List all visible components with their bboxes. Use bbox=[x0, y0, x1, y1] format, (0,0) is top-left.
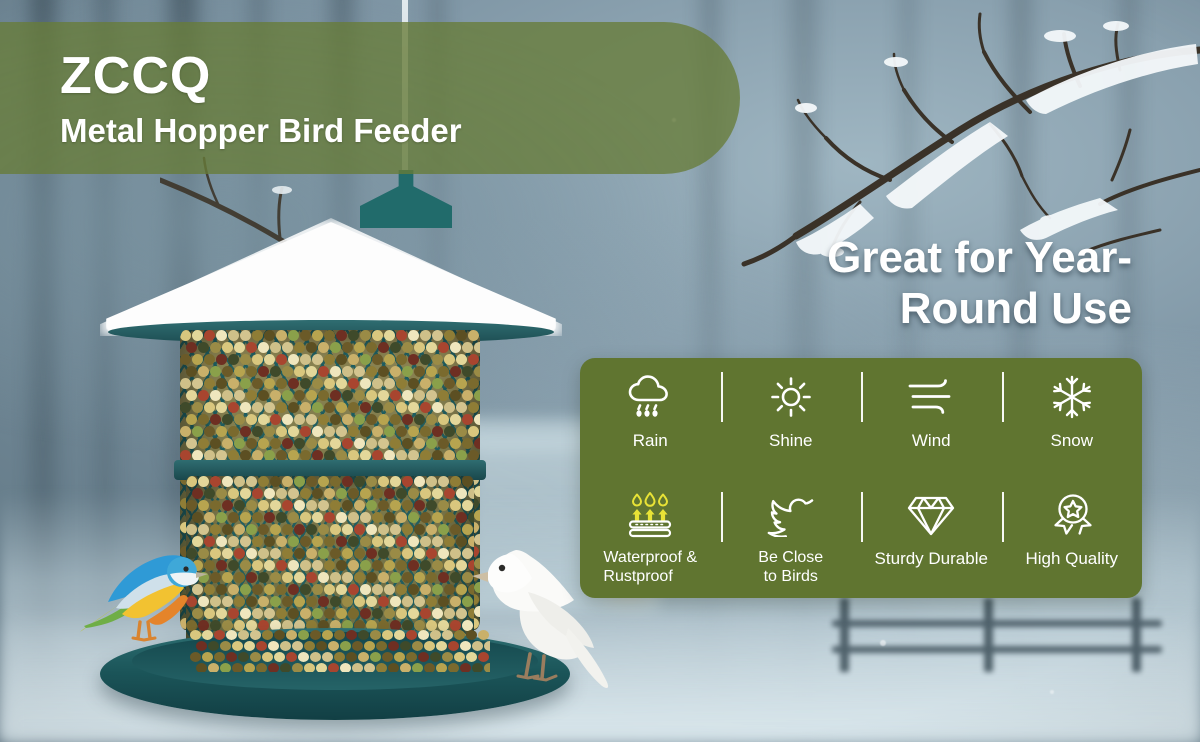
tray-spilled-seeds bbox=[190, 630, 490, 672]
product-marketing-banner: ZCCQ Metal Hopper Bird Feeder Great for … bbox=[0, 0, 1200, 742]
feature-label: Be Close to Birds bbox=[758, 549, 823, 587]
feature-panel: Rain Shine bbox=[580, 358, 1142, 598]
feature-label: Snow bbox=[1050, 431, 1093, 451]
rain-cloud-icon bbox=[626, 372, 674, 422]
cell-divider bbox=[721, 492, 723, 542]
waterproof-layers-icon bbox=[624, 490, 676, 540]
feeder-hanger-cap bbox=[360, 170, 452, 228]
cell-divider bbox=[1002, 372, 1004, 422]
feature-label: Shine bbox=[769, 431, 812, 451]
wind-icon bbox=[906, 372, 956, 422]
feature-label: High Quality bbox=[1025, 549, 1118, 569]
feature-shine[interactable]: Shine bbox=[721, 358, 862, 478]
feature-high-quality[interactable]: High Quality bbox=[1002, 478, 1143, 598]
feature-label: Waterproof & Rustproof bbox=[603, 549, 697, 587]
sun-shine-icon bbox=[769, 372, 813, 422]
feature-row-weather: Rain Shine bbox=[580, 358, 1142, 478]
feature-label: Sturdy Durable bbox=[875, 549, 988, 569]
headline: Great for Year- Round Use bbox=[512, 232, 1132, 334]
snowflake-icon bbox=[1049, 372, 1095, 422]
diamond-icon bbox=[906, 490, 956, 540]
feature-sturdy-durable[interactable]: Sturdy Durable bbox=[861, 478, 1002, 598]
feeder-roof-snow bbox=[106, 222, 556, 332]
bird-icon bbox=[766, 490, 816, 540]
award-badge-icon bbox=[1048, 490, 1096, 540]
headline-line-2: Round Use bbox=[512, 283, 1132, 334]
product-tagline: Metal Hopper Bird Feeder bbox=[60, 114, 740, 147]
feature-label: Rain bbox=[633, 431, 668, 451]
feature-row-quality: Waterproof & Rustproof Be Close to Birds bbox=[580, 478, 1142, 598]
painted-bunting-bird bbox=[78, 528, 208, 648]
headline-line-1: Great for Year- bbox=[512, 232, 1132, 283]
cell-divider bbox=[861, 492, 863, 542]
feature-be-close-to-birds[interactable]: Be Close to Birds bbox=[721, 478, 862, 598]
feature-waterproof-rustproof[interactable]: Waterproof & Rustproof bbox=[580, 478, 721, 598]
feature-rain[interactable]: Rain bbox=[580, 358, 721, 478]
cell-divider bbox=[1002, 492, 1004, 542]
brand-name: ZCCQ bbox=[60, 50, 740, 102]
feature-label: Wind bbox=[912, 431, 951, 451]
cell-divider bbox=[721, 372, 723, 422]
cell-divider bbox=[861, 372, 863, 422]
feature-wind[interactable]: Wind bbox=[861, 358, 1002, 478]
brand-banner: ZCCQ Metal Hopper Bird Feeder bbox=[0, 22, 740, 174]
feature-snow[interactable]: Snow bbox=[1002, 358, 1143, 478]
